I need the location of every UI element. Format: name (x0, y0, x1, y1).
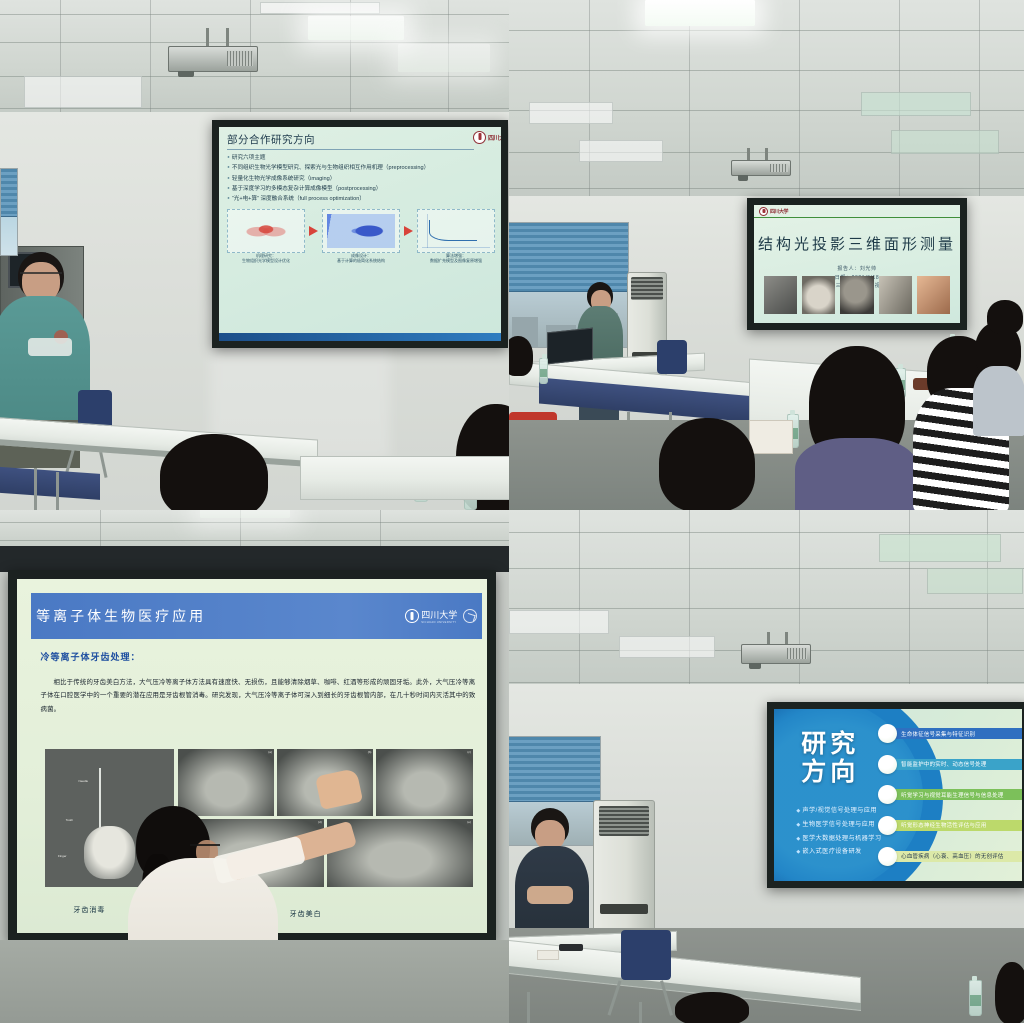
ceiling-tile (861, 92, 971, 116)
photo-bottom-right: 研究 方向 声学/视觉信号处理与应用 生物医学信号处理与应用 医学大数据处理与机… (509, 510, 1024, 1023)
ceiling-projector (731, 160, 791, 176)
scu-seal-icon (405, 609, 419, 623)
direction-row: 听觉学习与视觉耳能生理信号与信息处理 (878, 784, 1022, 806)
figure-cell: (a) (178, 749, 274, 817)
thumbnail-skull-scan (879, 276, 912, 314)
projection-screen: 四川大学 部分合作研究方向 研究六项主题 不同组织生物光学模型研究、探索光与生物… (212, 120, 508, 348)
ceiling-tile (619, 636, 715, 658)
bullet-dot-icon (878, 785, 897, 804)
figure-caption-right: 牙齿美白 (290, 909, 322, 919)
screen-surface: 四川大学 结构光投影三维面形测量 报告人：刘光帅 日期：2021/6/18 四川… (754, 205, 960, 323)
left-bullet: 医学大数据处理与机器学习 (796, 832, 881, 846)
glasses-icon (190, 844, 220, 850)
window (0, 168, 18, 256)
direction-bar-label: 听觉学习与视觉耳能生理信号与信息处理 (889, 789, 1022, 800)
thumbnail-face-scan (840, 276, 873, 314)
scu-logo-textblock: 四川大学 SICHUAN UNIVERSITY (421, 608, 457, 624)
slide-right-bars: 生命体征信号采集与特征识别 智能监护中的实时、动态信号处理 听觉学习与视觉耳能生… (878, 723, 1022, 868)
slide-thumbnail-strip (764, 276, 949, 314)
ceiling-tile (509, 610, 609, 634)
presenter-hands (527, 886, 573, 904)
office-chair (657, 340, 687, 374)
panel-tag: (d) (318, 820, 322, 824)
slide-header-rule: 四川大学 (754, 205, 960, 218)
optics-illustration-icon (327, 214, 395, 248)
projection-screen: 四川大学 结构光投影三维面形测量 报告人：刘光帅 日期：2021/6/18 四川… (747, 198, 967, 330)
header-logos: 四川大学 SICHUAN UNIVERSITY (405, 608, 477, 624)
ceiling-tile (529, 102, 613, 124)
slide-header-title: 等离子体生物医疗应用 (36, 606, 206, 626)
scu-logo-text: 四川大学 (488, 133, 501, 142)
flow-card-caption: 机理研究： 生物组织光学模型设计优化 (228, 252, 304, 263)
direction-row: 生命体征信号采集与特征识别 (878, 723, 1022, 745)
screen-surface: 四川大学 部分合作研究方向 研究六项主题 不同组织生物光学模型研究、探索光与生物… (219, 127, 501, 341)
air-conditioner (593, 800, 655, 936)
conference-table (300, 456, 509, 500)
photo-collage: 四川大学 部分合作研究方向 研究六项主题 不同组织生物光学模型研究、探索光与生物… (0, 0, 1024, 1023)
scu-logo-text: 四川大学 (770, 208, 788, 215)
presenter-line: 报告人：刘光帅 (754, 265, 960, 274)
slide-research-directions: 研究 方向 声学/视觉信号处理与应用 生物医学信号处理与应用 医学大数据处理与机… (774, 709, 1022, 881)
attendee-head (995, 962, 1024, 1023)
ceiling-light (308, 16, 404, 40)
direction-row: 听觉形态神经生物活性评估与应用 (878, 814, 1022, 836)
ceiling-tile (579, 140, 663, 162)
figure-label-needle: Needle (79, 779, 89, 783)
wall-shadow-band (0, 546, 509, 572)
thumbnail-leg-scan (764, 276, 797, 314)
scu-logo: 四川大学 (759, 207, 788, 216)
slide-footer-bar (219, 333, 501, 341)
photo-top-right: 四川大学 结构光投影三维面形测量 报告人：刘光帅 日期：2021/6/18 四川… (509, 0, 1024, 510)
panel-tag: (c) (467, 750, 471, 754)
water-bottle (969, 980, 982, 1016)
network-illustration-icon (422, 214, 490, 248)
slide-bullet: 不同组织生物光学模型研究、探索光与生物组织相互作用机理（preprocessin… (227, 163, 495, 173)
slide-title-page: 四川大学 结构光投影三维面形测量 报告人：刘光帅 日期：2021/6/18 四川… (754, 205, 960, 323)
photo-bottom-left: 等离子体生物医疗应用 四川大学 SICHUAN UNIVERSITY (0, 510, 509, 1023)
slide-bullet: 基于深度学习的多模态复杂计算成像模型（postprocessing） (227, 184, 495, 194)
tissue-box (749, 420, 793, 454)
scu-logo-text: 四川大学 (421, 608, 457, 621)
attendee-head (659, 418, 755, 510)
flow-card-caption: 算法增强： 数据扩充模型及图像复原增强 (418, 252, 494, 263)
paper-sheet (537, 950, 559, 960)
scu-seal-icon (473, 131, 486, 144)
figure-caption-left: 牙齿消毒 (73, 905, 105, 915)
slide-title: 部分合作研究方向 (227, 132, 474, 150)
slide-cooperative-research: 四川大学 部分合作研究方向 研究六项主题 不同组织生物光学模型研究、探索光与生物… (219, 127, 501, 341)
flow-card-algorithm: 算法增强： 数据扩充模型及图像复原增强 (417, 209, 495, 253)
figure-label-finger: Finger (58, 854, 67, 858)
scu-logo-subtext: SICHUAN UNIVERSITY (421, 621, 457, 624)
flow-card-mechanism: 机理研究： 生物组织光学模型设计优化 (227, 209, 305, 253)
flow-arrow-icon (404, 226, 413, 236)
bullet-dot-icon (878, 755, 897, 774)
ceiling-light (645, 0, 755, 26)
ceiling-projector (168, 46, 258, 72)
slide-bullet: 轻量化生物光学成像系统研究（imaging） (227, 174, 495, 184)
thumbnail-dental-cast (802, 276, 835, 314)
heading-line-1: 研究 (801, 730, 859, 758)
glasses-icon (20, 272, 62, 279)
attendee-head (160, 434, 268, 510)
presenter-body (0, 296, 90, 422)
direction-bar-label: 听觉形态神经生物活性评估与应用 (889, 820, 1022, 831)
water-bottle (539, 358, 548, 384)
laptop (547, 328, 593, 365)
bullet-dot-icon (878, 724, 897, 743)
attendee-body (795, 438, 919, 510)
flow-arrow-icon (309, 226, 318, 236)
flow-card-imaging: 成像设计： 基于计算的极简化系统结构 (322, 209, 400, 253)
attendee-body (973, 366, 1024, 436)
figure-label-tooth: Tooth (66, 818, 73, 822)
thumbnail-hand-scan (917, 276, 950, 314)
bullet-dot-icon (878, 847, 897, 866)
direction-bar-label: 生命体征信号采集与特征识别 (889, 728, 1022, 739)
ceiling-tile (891, 130, 999, 154)
scu-seal-icon (759, 207, 768, 216)
direction-bar-label: 心血管疾病（心衰、高血压）的无创评估 (889, 851, 1022, 862)
attendee-head (509, 336, 533, 376)
direction-row: 智能监护中的实时、动态信号处理 (878, 753, 1022, 775)
secondary-lab-logo-icon (463, 609, 477, 623)
floor (0, 940, 509, 1023)
figure-cell: (c) (376, 749, 472, 817)
slide-flow-diagram: 机理研究： 生物组织光学模型设计优化 成像设计： 基于计算的极简化系统结构 (227, 209, 495, 253)
slide-bullet: “光+电+算” 深度融合系统（full process optimization… (227, 194, 495, 204)
handheld-paper (28, 338, 72, 356)
ceiling-light (398, 44, 490, 72)
scu-logo: 四川大学 SICHUAN UNIVERSITY (405, 608, 457, 624)
flow-card-caption: 成像设计： 基于计算的极简化系统结构 (323, 252, 399, 263)
slide-bullet-list: 研究六项主题 不同组织生物光学模型研究、探索光与生物组织相互作用机理（prepr… (227, 153, 495, 205)
direction-row: 心血管疾病（心衰、高血压）的无创评估 (878, 845, 1022, 867)
screen-surface: 研究 方向 声学/视觉信号处理与应用 生物医学信号处理与应用 医学大数据处理与机… (774, 709, 1022, 881)
ceiling-tile (927, 568, 1023, 594)
left-bullet: 嵌入式医疗设备研发 (796, 845, 881, 859)
ceiling-tile (260, 2, 380, 14)
ceiling-projector (741, 644, 811, 664)
slide-section-heading: 冷等离子体牙齿处理： (41, 650, 141, 663)
slide-main-title: 结构光投影三维面形测量 (754, 233, 960, 254)
panel-tag: (a) (268, 750, 272, 754)
panel-tag: (b) (368, 750, 372, 754)
direction-bar-label: 智能监护中的实时、动态信号处理 (889, 759, 1022, 770)
attendee-head (987, 300, 1023, 334)
panel-tag: (e) (467, 820, 471, 824)
photo-top-left: 四川大学 部分合作研究方向 研究六项主题 不同组织生物光学模型研究、探索光与生物… (0, 0, 509, 510)
left-bullet: 生物医学信号处理与应用 (796, 818, 881, 832)
ceiling-tile (879, 534, 1001, 562)
slide-heading: 研究 方向 (801, 730, 859, 786)
ceiling-light (200, 510, 290, 518)
slide-paragraph: 相比于传统的牙齿美白方法，大气压冷等离子体方法具有速度快、无损伤，且能够清除烟草… (41, 676, 478, 715)
scu-logo: 四川大学 (473, 129, 497, 145)
attendee-head (675, 992, 749, 1023)
bullet-dot-icon (878, 816, 897, 835)
projection-screen: 研究 方向 声学/视觉信号处理与应用 生物医学信号处理与应用 医学大数据处理与机… (767, 702, 1024, 888)
remote-control (559, 944, 583, 951)
anatomy-illustration-icon (232, 214, 300, 248)
slide-left-bullets: 声学/视觉信号处理与应用 生物医学信号处理与应用 医学大数据处理与机器学习 嵌入… (796, 804, 881, 860)
left-bullet: 声学/视觉信号处理与应用 (796, 804, 881, 818)
ceiling-tile (24, 76, 142, 108)
slide-bullet: 研究六项主题 (227, 153, 495, 163)
heading-line-2: 方向 (801, 758, 859, 786)
slide-header-bar: 等离子体生物医疗应用 四川大学 SICHUAN UNIVERSITY (31, 593, 482, 639)
office-chair (621, 930, 671, 980)
